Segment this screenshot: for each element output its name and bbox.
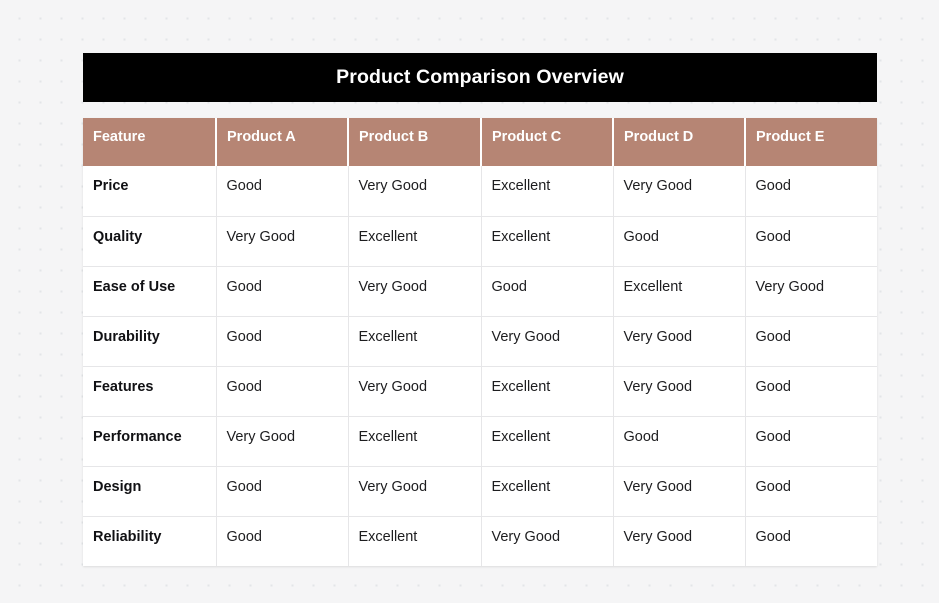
- table-cell: Very Good: [745, 266, 877, 316]
- table-cell: Very Good: [216, 416, 348, 466]
- table-cell: Good: [745, 216, 877, 266]
- table-cell: Very Good: [348, 466, 481, 516]
- table-cell: Very Good: [613, 466, 745, 516]
- table-row: Features Good Very Good Excellent Very G…: [83, 366, 877, 416]
- column-header-product-b[interactable]: Product B: [348, 118, 481, 166]
- feature-label: Ease of Use: [83, 266, 216, 316]
- table-cell: Good: [745, 166, 877, 216]
- column-header-product-d[interactable]: Product D: [613, 118, 745, 166]
- table-cell: Very Good: [613, 366, 745, 416]
- title-table-gap: [83, 102, 877, 118]
- table-cell: Good: [216, 466, 348, 516]
- table-cell: Excellent: [348, 416, 481, 466]
- table-cell: Excellent: [348, 216, 481, 266]
- table-header: Feature Product A Product B Product C Pr…: [83, 118, 877, 166]
- table-cell: Good: [613, 216, 745, 266]
- table-cell: Excellent: [481, 466, 613, 516]
- page-title: Product Comparison Overview: [336, 68, 624, 88]
- table-cell: Excellent: [481, 216, 613, 266]
- table-cell: Good: [745, 466, 877, 516]
- table-cell: Excellent: [481, 366, 613, 416]
- column-header-feature[interactable]: Feature: [83, 118, 216, 166]
- table-cell: Excellent: [481, 416, 613, 466]
- feature-label: Reliability: [83, 516, 216, 566]
- table-row: Ease of Use Good Very Good Good Excellen…: [83, 266, 877, 316]
- table-cell: Excellent: [481, 166, 613, 216]
- table-cell: Excellent: [348, 316, 481, 366]
- table-cell: Very Good: [348, 266, 481, 316]
- table-row: Durability Good Excellent Very Good Very…: [83, 316, 877, 366]
- table-cell: Good: [745, 366, 877, 416]
- feature-label: Quality: [83, 216, 216, 266]
- table-cell: Good: [216, 166, 348, 216]
- product-comparison-table: Feature Product A Product B Product C Pr…: [83, 118, 877, 566]
- table-cell: Good: [216, 266, 348, 316]
- table-row: Performance Very Good Excellent Excellen…: [83, 416, 877, 466]
- column-header-product-e[interactable]: Product E: [745, 118, 877, 166]
- table-cell: Good: [481, 266, 613, 316]
- table-cell: Good: [745, 416, 877, 466]
- header-row: Feature Product A Product B Product C Pr…: [83, 118, 877, 166]
- table-row: Design Good Very Good Excellent Very Goo…: [83, 466, 877, 516]
- title-bar: Product Comparison Overview: [83, 53, 877, 102]
- table-cell: Good: [745, 516, 877, 566]
- table-cell: Very Good: [613, 316, 745, 366]
- column-header-product-a[interactable]: Product A: [216, 118, 348, 166]
- table-cell: Good: [216, 516, 348, 566]
- table-cell: Very Good: [613, 166, 745, 216]
- table-row: Quality Very Good Excellent Excellent Go…: [83, 216, 877, 266]
- feature-label: Price: [83, 166, 216, 216]
- table-cell: Good: [216, 366, 348, 416]
- table-cell: Very Good: [481, 316, 613, 366]
- table-row: Reliability Good Excellent Very Good Ver…: [83, 516, 877, 566]
- feature-label: Performance: [83, 416, 216, 466]
- table-cell: Very Good: [481, 516, 613, 566]
- table-row: Price Good Very Good Excellent Very Good…: [83, 166, 877, 216]
- table-cell: Excellent: [613, 266, 745, 316]
- feature-label: Features: [83, 366, 216, 416]
- table-cell: Very Good: [348, 366, 481, 416]
- table-body: Price Good Very Good Excellent Very Good…: [83, 166, 877, 566]
- table-cell: Good: [216, 316, 348, 366]
- table-cell: Very Good: [216, 216, 348, 266]
- table-cell: Good: [745, 316, 877, 366]
- column-header-product-c[interactable]: Product C: [481, 118, 613, 166]
- feature-label: Design: [83, 466, 216, 516]
- table-cell: Excellent: [348, 516, 481, 566]
- table-cell: Very Good: [613, 516, 745, 566]
- table-cell: Very Good: [348, 166, 481, 216]
- comparison-sheet: Product Comparison Overview Feature Prod…: [83, 53, 877, 566]
- feature-label: Durability: [83, 316, 216, 366]
- table-cell: Good: [613, 416, 745, 466]
